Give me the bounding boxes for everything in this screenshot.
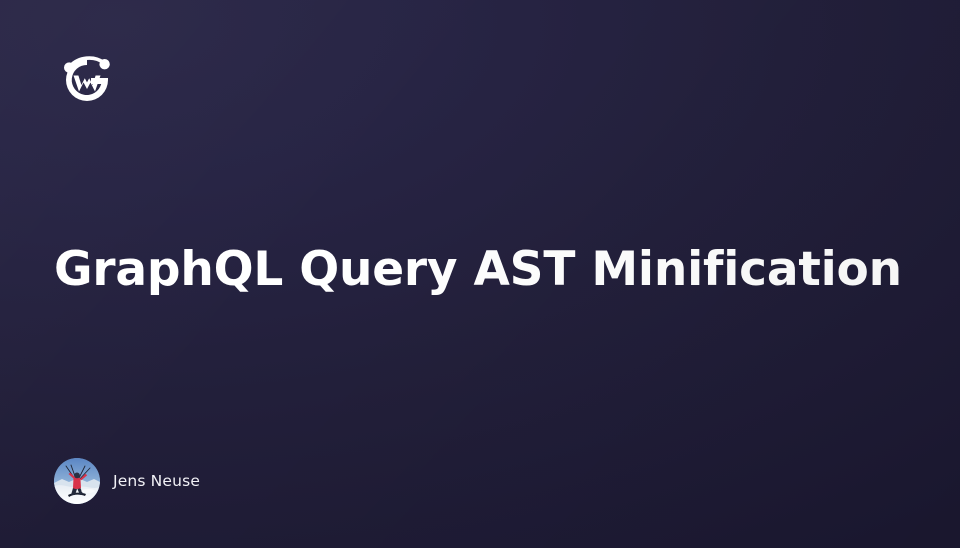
author-byline: Jens Neuse: [54, 458, 200, 504]
wundergraph-wg-logo-icon: [58, 48, 116, 108]
brand-logo[interactable]: [58, 48, 116, 108]
title-slide: GraphQL Query AST Minification: [0, 0, 960, 548]
author-name: Jens Neuse: [113, 472, 200, 490]
page-title: GraphQL Query AST Minification: [54, 243, 874, 298]
snowkiter-photo-avatar: [54, 458, 100, 504]
avatar: [54, 458, 100, 504]
